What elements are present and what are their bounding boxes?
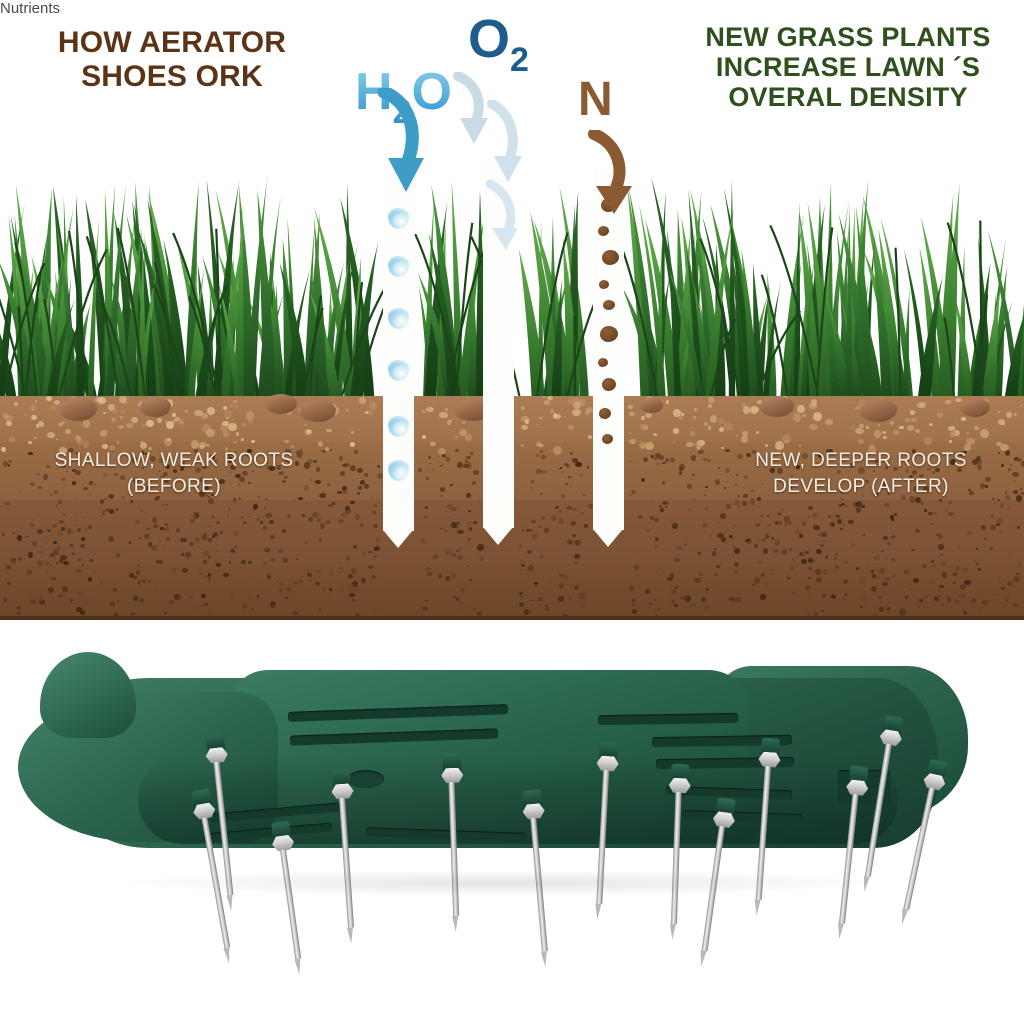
soil-speck [185,410,188,413]
soil-speck [51,577,56,580]
nitrogen-symbol-label: N [578,72,613,127]
soil-speck [740,600,743,602]
soil-pebble [640,398,663,413]
caption-after-roots: NEW, DEEPER ROOTS DEVELOP (AFTER) [706,448,1016,499]
soil-speck [871,570,873,572]
page-title-right: NEW GRASS PLANTS INCREASE LAWN ´S OVERAL… [688,22,1008,113]
soil-speck [821,610,824,612]
soil-speck [521,596,523,598]
soil-speck [629,586,633,591]
spike-point [347,927,354,943]
soil-speck [270,601,276,607]
soil-speck [76,501,78,502]
soil-speck [65,429,71,434]
soil-speck [572,458,578,462]
soil-speck [568,425,574,430]
soil-speck [341,512,347,518]
soil-speck [536,454,538,456]
soil-speck [85,528,87,530]
soil-speck [861,597,867,602]
soil-speck [997,518,1002,522]
soil-speck [369,402,377,410]
title-left-line1: HOW AERATOR [58,26,286,59]
soil-speck [134,602,136,603]
soil-speck [62,586,67,592]
soil-speck [966,531,971,535]
soil-speck [717,533,723,538]
soil-speck [750,406,758,414]
soil-speck [76,519,78,521]
soil-speck [588,435,592,439]
soil-speck [445,576,450,580]
soil-speck [299,580,302,583]
soil-speck [426,567,431,571]
water-flow-arrow-icon [376,88,436,196]
soil-speck [72,553,75,555]
soil-speck [851,543,855,546]
soil-speck [473,521,477,524]
soil-speck [271,558,275,562]
soil-speck [1016,495,1022,502]
soil-speck [934,596,939,600]
soil-speck [785,524,787,526]
soil-speck [144,534,150,540]
soil-speck [539,555,544,559]
soil-speck [340,471,345,476]
grass-blade [627,186,651,400]
soil-speck [477,544,483,551]
soil-speck [521,416,529,422]
soil-speck [27,570,32,574]
soil-speck [574,540,580,546]
soil-speck [228,507,231,510]
soil-speck [449,516,451,518]
soil-speck [583,494,585,496]
soil-speck [206,429,215,438]
soil-speck [629,439,635,444]
soil-speck [741,436,747,443]
soil-speck [761,573,765,576]
soil-speck [673,428,680,433]
soil-speck [292,611,298,616]
soil-speck [528,565,533,571]
soil-speck [422,435,426,439]
soil-speck [81,537,85,542]
soil-speck [866,563,869,566]
soil-speck [290,590,294,593]
soil-speck [344,463,350,468]
soil-speck [8,460,12,463]
soil-speck [249,597,251,599]
soil-speck [526,529,529,532]
soil-speck [996,523,1000,526]
soil-speck [181,553,184,556]
caption-after-line1: NEW, DEEPER ROOTS [706,448,1016,474]
soil-speck [858,439,864,444]
soil-speck [339,588,343,592]
soil-speck [359,397,366,403]
soil-speck [203,560,207,564]
soil-speck [285,597,287,599]
soil-speck [17,535,22,540]
soil-speck [46,396,52,400]
soil-speck [465,459,468,462]
soil-speck [982,600,988,605]
soil-speck [59,520,64,524]
water-droplet [388,256,409,277]
soil-speck [5,415,12,421]
soil-speck [980,429,989,438]
soil-speck [468,510,470,512]
soil-speck [194,410,202,416]
soil-speck [782,435,791,443]
soil-speck [317,570,321,573]
soil-speck [828,515,831,518]
soil-speck [899,426,904,430]
soil-speck [422,410,425,413]
soil-speck [538,597,543,601]
soil-speck [34,437,36,439]
soil-speck [211,515,215,519]
soil-speck [558,510,562,514]
soil-speck [558,518,564,524]
soil-speck [88,577,92,581]
aerator-shoe-sole [18,652,968,882]
soil-speck [714,588,718,591]
spike-point [223,947,232,964]
soil-speck [328,504,332,507]
soil-speck [146,420,154,427]
soil-speck [235,405,238,409]
soil-speck [837,519,842,524]
soil-speck [32,519,35,521]
soil-speck [47,432,55,438]
soil-speck [457,530,463,534]
soil-speck [632,609,636,613]
soil-speck [545,607,548,611]
spike-point [698,950,706,967]
soil-speck [939,585,943,588]
channel-tip [593,529,623,547]
soil-speck [35,400,37,402]
soil-speck [720,563,722,565]
soil-speck [166,537,170,541]
soil-speck [327,593,330,595]
soil-speck [760,594,765,600]
soil-speck [920,501,924,505]
soil-speck [420,538,426,545]
soil-clod [602,434,613,444]
soil-speck [549,578,551,579]
soil-speck [352,599,354,601]
channel-tip [383,530,413,548]
soil-speck [544,400,549,404]
soil-speck [856,507,861,513]
soil-speck [358,486,362,490]
soil-speck [110,602,115,606]
o2-subscript: 2 [510,41,529,79]
soil-speck [778,521,782,525]
soil-speck [783,549,789,555]
soil-speck [430,442,435,446]
soil-speck [160,527,164,530]
soil-speck [466,456,470,460]
soil-speck [164,527,169,531]
soil-speck [208,578,211,581]
soil-speck [879,607,884,611]
soil-speck [816,577,822,583]
soil-speck [1007,508,1009,510]
soil-speck [659,505,662,508]
soil-speck [216,521,220,524]
soil-speck [174,594,179,599]
soil-speck [440,495,443,497]
soil-speck [559,583,564,589]
soil-speck [5,502,9,505]
soil-speck [330,517,332,519]
soil-speck [6,565,11,570]
soil-speck [307,573,311,576]
soil-speck [7,582,10,585]
soil-speck [928,512,932,516]
soil-speck [883,436,886,438]
soil-speck [587,466,590,469]
soil-speck [242,423,246,426]
soil-speck [924,437,931,445]
soil-clod [598,358,608,367]
soil-speck [750,498,756,504]
soil-speck [719,427,724,432]
soil-speck [1021,492,1024,495]
soil-speck [307,568,310,571]
soil-speck [919,599,923,602]
soil-clod [599,280,609,289]
soil-speck [856,567,859,570]
soil-speck [787,577,789,579]
soil-speck [653,433,657,436]
soil-speck [572,534,576,537]
soil-speck [584,524,588,528]
spike-point [226,895,234,912]
soil-speck [69,544,74,547]
soil-speck [981,525,986,530]
soil-speck [690,431,695,436]
soil-speck [473,470,478,476]
soil-speck [304,424,306,426]
soil-speck [70,599,73,602]
soil-speck [315,582,320,585]
soil-speck [264,548,267,551]
aeration-infographic: HOW AERATOR SHOES ORK NEW GRASS PLANTS I… [0,0,1024,620]
soil-speck [834,556,838,559]
soil-speck [83,420,91,428]
spike-point [836,923,844,940]
soil-speck [782,509,784,510]
soil-speck [456,597,459,600]
soil-speck [679,472,682,475]
product-photo [0,620,1024,1024]
soil-speck [701,597,706,602]
o2-symbol: O [468,9,510,69]
soil-speck [373,524,377,528]
soil-speck [949,440,953,443]
soil-speck [665,506,667,508]
caption-before-roots: SHALLOW, WEAK ROOTS (BEFORE) [14,448,334,499]
soil-speck [38,421,44,427]
soil-speck [440,487,445,492]
soil-speck [693,416,697,419]
soil-speck [348,574,353,579]
soil-speck [427,572,433,576]
soil-speck [904,570,909,574]
soil-speck [364,484,369,489]
soil-speck [561,494,565,498]
soil-speck [233,530,239,536]
soil-speck [886,607,890,611]
soil-speck [354,586,360,592]
soil-speck [467,465,472,469]
soil-speck [267,576,270,579]
soil-speck [94,572,96,573]
soil-speck [977,591,980,594]
soil-speck [103,412,105,414]
soil-speck [1007,581,1013,586]
soil-speck [726,504,731,508]
soil-speck [801,559,807,564]
oxygen-flow-arrow-icon-2 [486,100,532,250]
soil-speck [129,541,131,543]
soil-speck [1016,573,1019,575]
soil-speck [108,536,113,542]
soil-clod [600,326,618,342]
soil-speck [687,603,693,607]
soil-speck [67,528,73,534]
soil-speck [734,500,740,506]
soil-speck [805,586,809,590]
spike-point [452,916,459,932]
soil-speck [519,544,522,547]
soil-speck [662,462,666,464]
caption-before-line2: (BEFORE) [14,474,334,500]
soil-speck [39,551,41,553]
soil-speck [679,467,683,471]
soil-speck [340,567,342,569]
soil-clod [603,300,615,310]
soil-speck [519,602,524,607]
soil-speck [674,604,678,607]
soil-speck [883,536,889,540]
soil-speck [58,500,62,504]
soil-speck [891,518,894,521]
soil-speck [729,535,732,538]
soil-speck [820,544,824,547]
soil-speck [910,410,915,416]
soil-speck [845,561,847,564]
soil-speck [85,598,90,602]
water-droplet [388,208,409,229]
soil-speck [815,569,820,575]
soil-speck [241,516,244,518]
soil-speck [126,423,133,428]
soil-speck [771,549,773,550]
soil-speck [574,585,578,590]
soil-speck [884,503,889,507]
soil-speck [954,599,958,603]
soil-speck [47,529,51,532]
soil-speck [913,578,919,583]
soil-speck [18,557,22,560]
soil-speck [763,538,766,541]
soil-speck [521,425,528,430]
soil-speck [455,449,459,452]
spike-point [594,904,601,920]
soil-speck [555,506,559,509]
soil-speck [709,534,712,537]
soil-speck [318,441,323,447]
soil-speck [82,564,85,566]
water-droplet [388,416,409,437]
soil-speck [522,529,524,531]
soil-speck [189,542,194,546]
soil-speck [353,545,357,550]
water-channel [383,176,414,531]
soil-speck [809,424,818,430]
soil-speck [468,538,470,540]
soil-speck [695,441,703,450]
soil-speck [917,402,923,408]
soil-speck [372,608,378,612]
soil-clod [602,378,616,391]
soil-speck [629,432,631,434]
soil-speck [457,555,463,559]
soil-speck [799,534,803,538]
soil-speck [279,588,283,592]
soil-speck [808,558,812,563]
soil-speck [287,514,291,518]
soil-speck [797,405,805,413]
soil-speck [802,414,806,417]
soil-speck [1001,587,1005,590]
soil-speck [371,497,373,498]
soil-speck [530,487,532,489]
soil-speck [220,531,223,534]
soil-speck [687,484,692,489]
soil-speck [458,600,463,605]
product-infographic-page: HOW AERATOR SHOES ORK NEW GRASS PLANTS I… [0,0,1024,1024]
soil-speck [228,423,237,431]
soil-speck [878,424,880,426]
soil-speck [178,419,184,425]
oxygen-formula-label: O2 [468,8,529,80]
soil-speck [788,521,792,524]
soil-speck [355,514,360,520]
soil-speck [111,418,116,422]
soil-speck [639,442,646,448]
soil-speck [645,589,650,594]
soil-speck [882,431,886,434]
soil-speck [346,409,350,412]
soil-speck [823,569,829,575]
soil-speck [374,555,376,558]
soil-speck [659,455,664,460]
soil-speck [805,551,809,554]
soil-speck [83,517,86,519]
soil-speck [30,599,36,604]
soil-speck [649,603,652,605]
soil-speck [146,528,149,531]
soil-speck [655,537,659,541]
soil-speck [459,605,465,610]
